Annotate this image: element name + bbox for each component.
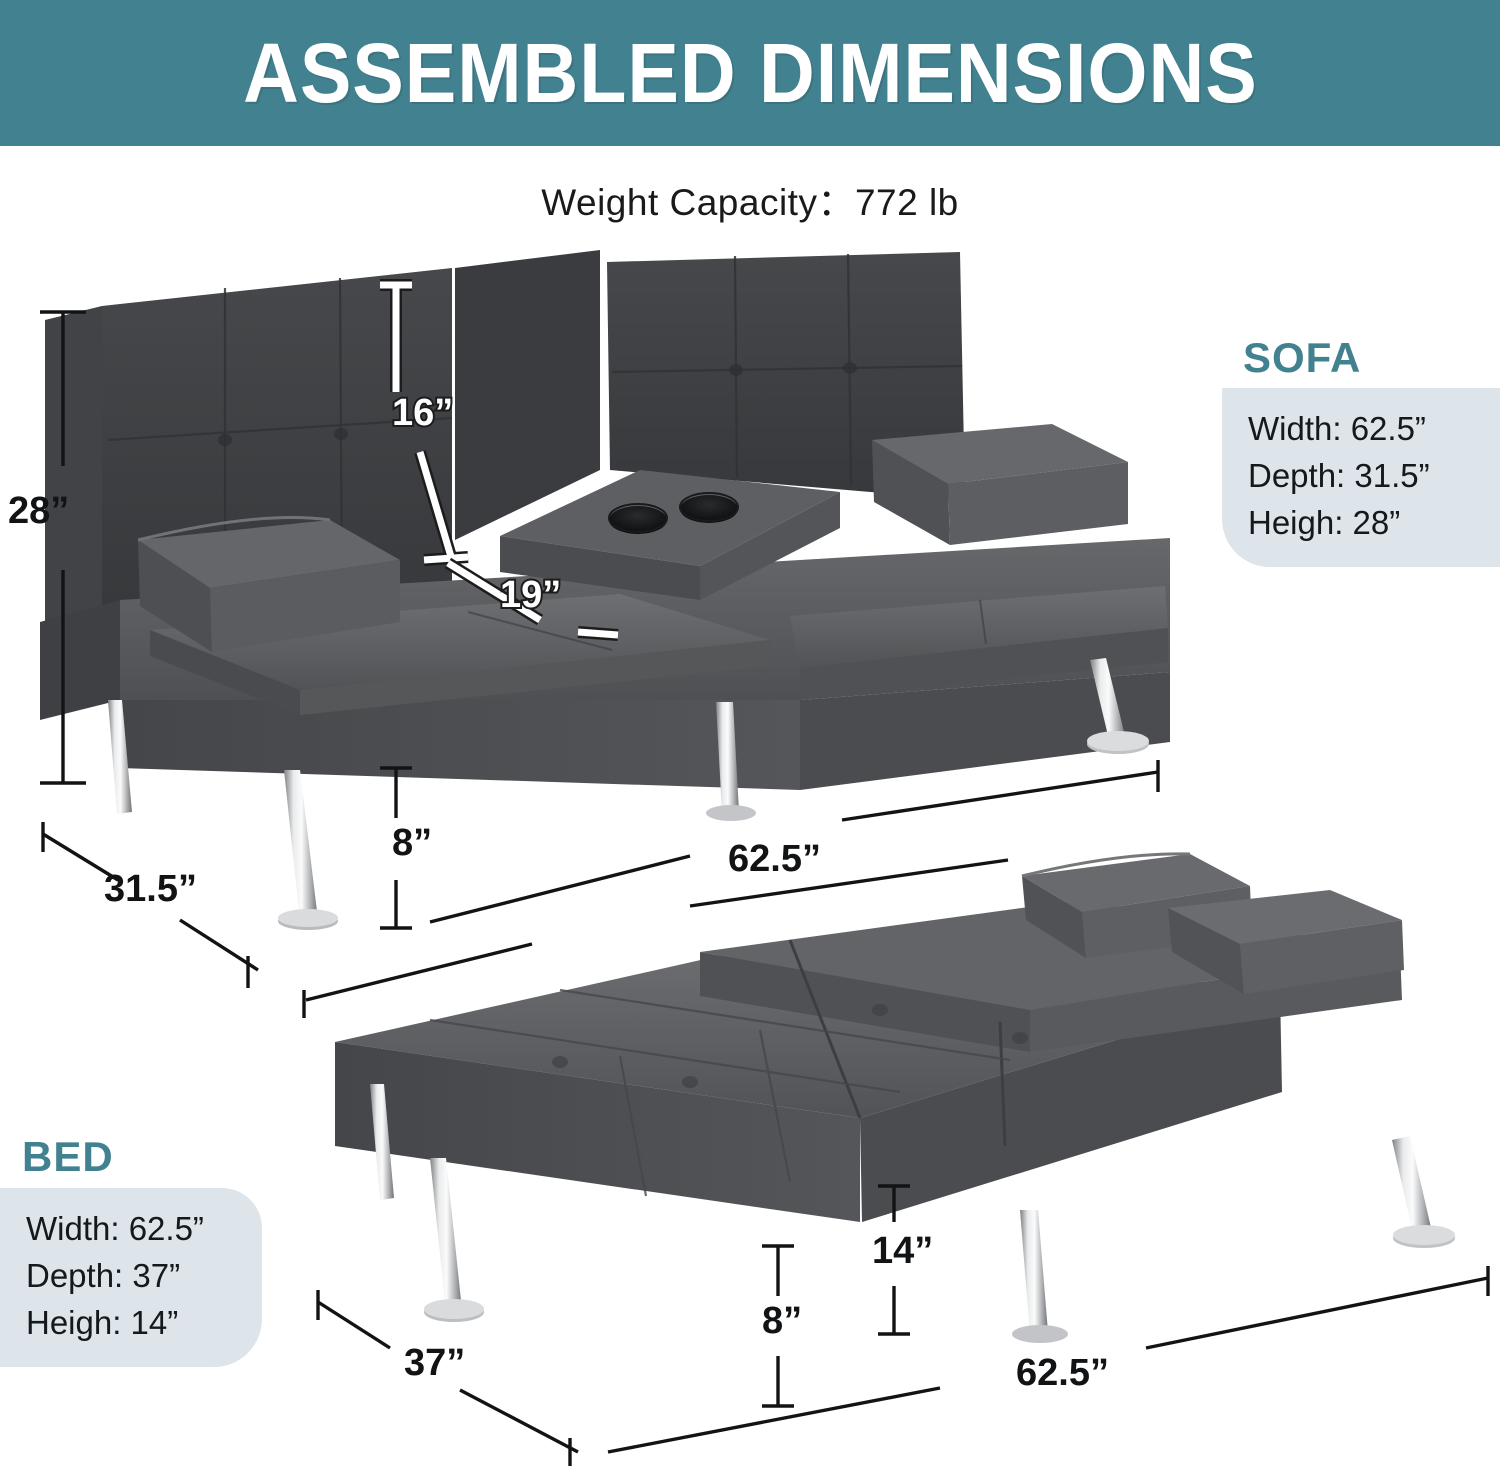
dim-bed-leg: 8” bbox=[762, 1300, 802, 1343]
sofa-depth-line: Depth: 31.5” bbox=[1248, 453, 1474, 500]
sofa-heading: SOFA bbox=[1243, 334, 1361, 382]
infographic-page: ASSEMBLED DIMENSIONS Weight Capacity：772… bbox=[0, 0, 1500, 1469]
sofa-height-line: Heigh: 28” bbox=[1248, 500, 1474, 547]
dim-sofa-width: 62.5” bbox=[728, 838, 821, 881]
sofa-width-line: Width: 62.5” bbox=[1248, 406, 1474, 453]
bed-spec-box: Width: 62.5” Depth: 37” Heigh: 14” bbox=[0, 1188, 262, 1367]
bed-height-line: Heigh: 14” bbox=[26, 1300, 236, 1347]
dim-sofa-backrest: 16” bbox=[392, 392, 453, 435]
bed-depth-line: Depth: 37” bbox=[26, 1253, 236, 1300]
sofa-spec-box: Width: 62.5” Depth: 31.5” Heigh: 28” bbox=[1222, 388, 1500, 567]
bed-width-line: Width: 62.5” bbox=[26, 1206, 236, 1253]
dim-bed-depth: 37” bbox=[404, 1342, 465, 1385]
dim-sofa-height: 28” bbox=[8, 490, 69, 533]
bed-heading: BED bbox=[22, 1133, 114, 1181]
dim-sofa-depth: 31.5” bbox=[104, 868, 197, 911]
sofa-illustration bbox=[40, 250, 1170, 930]
dim-bed-width-bottom: 62.5” bbox=[1016, 1352, 1109, 1395]
dim-sofa-seat-depth: 19” bbox=[500, 574, 561, 617]
dim-bed-height: 14” bbox=[872, 1230, 933, 1273]
dim-sofa-leg: 8” bbox=[392, 822, 432, 865]
